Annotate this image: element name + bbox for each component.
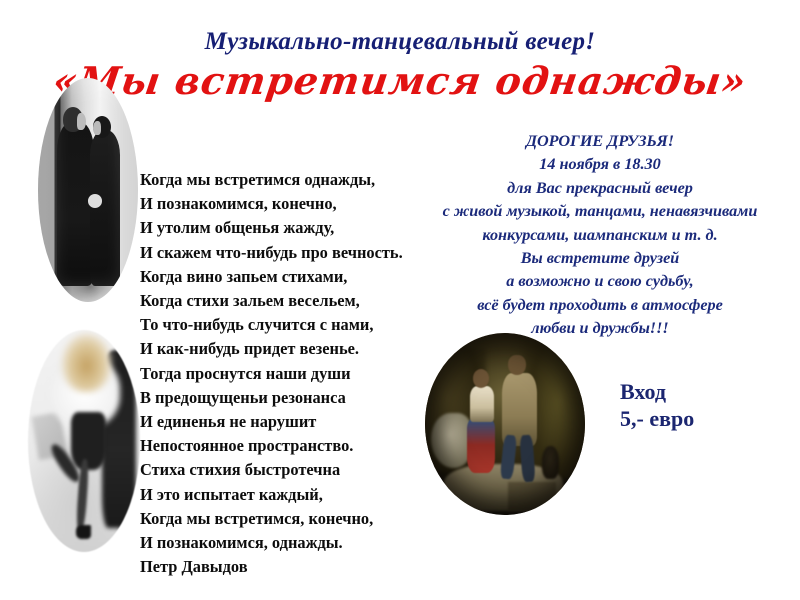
entry-price-block: Вход 5,- евро xyxy=(620,378,694,432)
entry-label: Вход xyxy=(620,378,694,405)
poem-line: В предощущеньи резонанса xyxy=(140,386,440,410)
announcement-line: всё будет проходить в атмосфере xyxy=(400,294,800,317)
poem-line: И единенья не нарушит xyxy=(140,410,440,434)
announcement-line: конкурсами, шампанским и т. д. xyxy=(400,224,800,247)
announcement-line: ДОРОГИЕ ДРУЗЬЯ! xyxy=(400,130,800,153)
painting-vignette xyxy=(425,333,585,515)
poem-line: Стиха стихия быстротечна xyxy=(140,458,440,482)
announcement-line: любви и дружбы!!! xyxy=(400,317,800,340)
photo-dancer-hair xyxy=(62,334,111,392)
painting-oval xyxy=(425,333,585,515)
announcement-block: ДОРОГИЕ ДРУЗЬЯ! 14 ноября в 18.30 для Ва… xyxy=(400,130,800,341)
poster-title-primary: Музыкально-танцевальный вечер! xyxy=(0,28,800,56)
announcement-line: для Вас прекрасный вечер xyxy=(400,177,800,200)
poem-line: И утолим общенья жажду, xyxy=(140,216,440,240)
photo-dancer-leg xyxy=(76,459,90,533)
poem-author: Петр Давыдов xyxy=(140,555,440,579)
dancer-photo-oval xyxy=(28,330,140,552)
announcement-line: с живой музыкой, танцами, ненавязчивами xyxy=(400,200,800,223)
poem-line: Когда мы встретимся однажды, xyxy=(140,168,440,192)
entry-price: 5,- евро xyxy=(620,405,694,432)
poem-line: Когда стихи зальем весельем, xyxy=(140,289,440,313)
poem-line: И это испытает каждый, xyxy=(140,483,440,507)
poem-line: И как-нибудь придет везенье. xyxy=(140,337,440,361)
poem-line: То что-нибудь случится с нами, xyxy=(140,313,440,337)
poem-block: Когда мы встретимся однажды, И познакоми… xyxy=(140,168,440,579)
poem-line: Тогда проснутся наши души xyxy=(140,362,440,386)
photo-dancer-shoe xyxy=(76,525,91,538)
poem-line: И скажем что-нибудь про вечность. xyxy=(140,241,440,265)
photo-vignette xyxy=(38,78,138,302)
poem-line: Когда мы встретимся, конечно, xyxy=(140,507,440,531)
announcement-line: 14 ноября в 18.30 xyxy=(400,153,800,176)
poem-line: Когда вино запьем стихами, xyxy=(140,265,440,289)
poster-canvas: Музыкально-танцевальный вечер! «Мы встре… xyxy=(0,0,800,600)
announcement-line: Вы встретите друзей xyxy=(400,247,800,270)
couple-photo-oval xyxy=(38,78,138,302)
poem-line: Непостоянное пространство. xyxy=(140,434,440,458)
poem-line: И познакомимся, конечно, xyxy=(140,192,440,216)
poem-line: И познакомимся, однажды. xyxy=(140,531,440,555)
announcement-line: а возможно и свою судьбу, xyxy=(400,270,800,293)
photo-dancer-skirt xyxy=(71,412,107,470)
